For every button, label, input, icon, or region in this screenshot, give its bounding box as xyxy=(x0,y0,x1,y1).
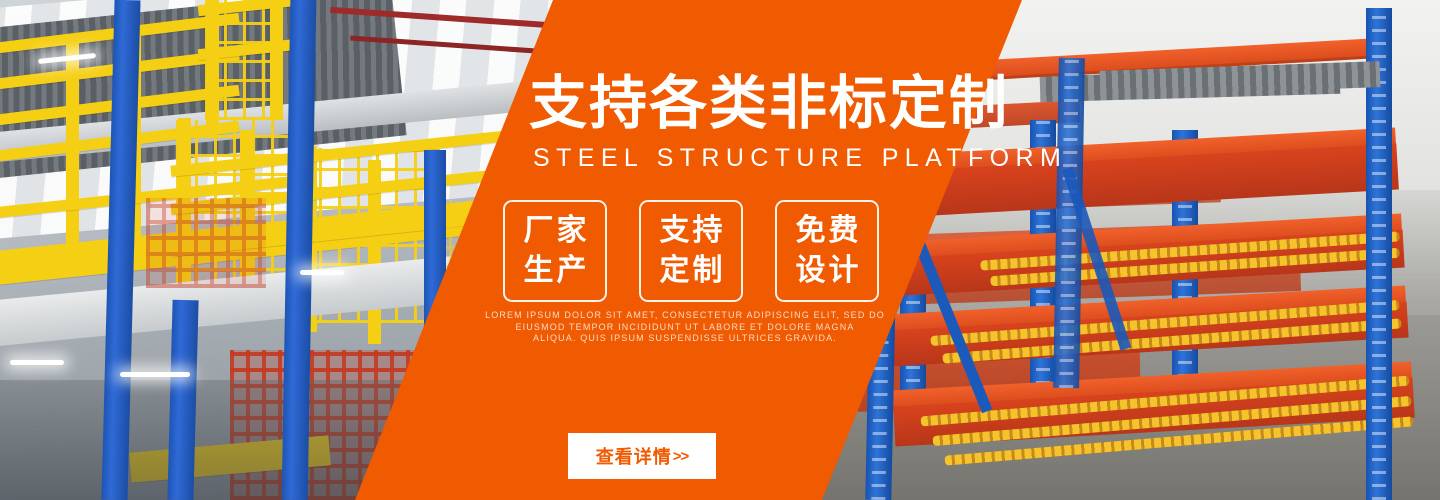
description-line-1: LOREM IPSUM DOLOR SIT AMET, CONSECTETUR … xyxy=(455,310,915,322)
feature-tag-line2: 设计 xyxy=(793,251,862,291)
page-title: 支持各类非标定制 xyxy=(529,72,1009,136)
description-text: LOREM IPSUM DOLOR SIT AMET, CONSECTETUR … xyxy=(455,310,915,345)
description-line-3: ALIQUA. QUIS IPSUM SUSPENDISSE ULTRICES … xyxy=(455,333,915,345)
feature-tag-free-design[interactable]: 免费 设计 xyxy=(775,200,879,302)
feature-tag-line1: 厂家 xyxy=(521,211,590,251)
subtitle: STEEL STRUCTURE PLATFORM xyxy=(533,143,1067,173)
feature-tag-list: 厂家 生产 支持 定制 免费 设计 xyxy=(503,200,879,302)
chevron-right-icon: >> xyxy=(673,448,689,465)
feature-tag-customization[interactable]: 支持 定制 xyxy=(639,200,743,302)
view-details-button[interactable]: 查看详情>> xyxy=(568,433,716,479)
feature-tag-line1: 免费 xyxy=(793,211,862,251)
feature-tag-line2: 生产 xyxy=(521,251,590,291)
feature-tag-line2: 定制 xyxy=(657,251,726,291)
feature-tag-manufacturer[interactable]: 厂家 生产 xyxy=(503,200,607,302)
banner-content: 支持各类非标定制 STEEL STRUCTURE PLATFORM 厂家 生产 … xyxy=(0,0,1440,500)
description-line-2: EIUSMOD TEMPOR INCIDIDUNT UT LABORE ET D… xyxy=(455,322,915,334)
promo-banner: 支持各类非标定制 STEEL STRUCTURE PLATFORM 厂家 生产 … xyxy=(0,0,1440,500)
view-details-label: 查看详情 xyxy=(596,443,672,469)
feature-tag-line1: 支持 xyxy=(657,211,726,251)
